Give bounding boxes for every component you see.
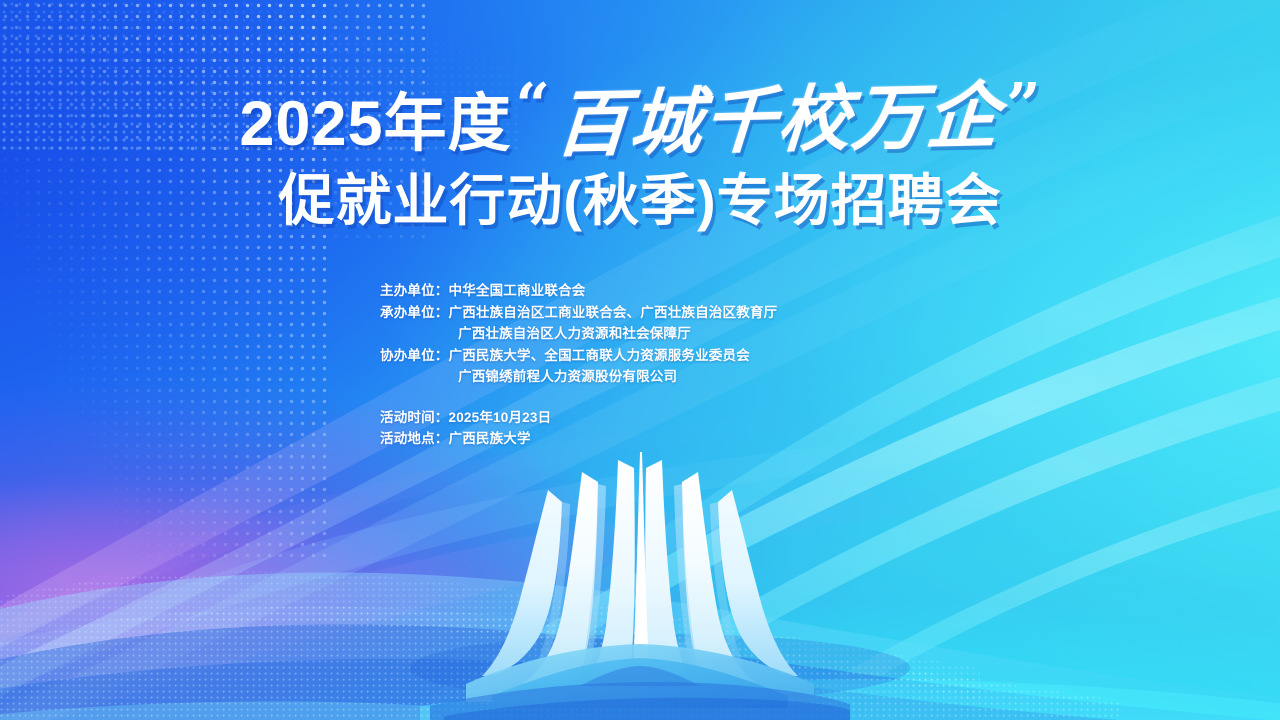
- quote-open-icon: “: [516, 76, 551, 136]
- credit-time: 活动时间： 2025年10月23日: [380, 407, 900, 429]
- subtitle: 促就业行动(秋季)专场招聘会: [0, 172, 1280, 231]
- credit-place: 活动地点： 广西民族大学: [380, 428, 900, 450]
- credits-block: 主办单位： 中华全国工商业联合会 承办单位： 广西壮族自治区工商业联合会、广西壮…: [380, 280, 900, 450]
- credit-host: 主办单位： 中华全国工商业联合会: [380, 280, 900, 302]
- credit-coorganizer-value-line2: 广西锦绣前程人力资源股份有限公司: [380, 366, 900, 388]
- credits-spacer: [380, 388, 900, 407]
- title-brush-phrase: 百城千校万企: [551, 79, 1005, 160]
- credit-time-label: 活动时间：: [380, 407, 449, 429]
- quote-close-icon: ”: [1006, 76, 1041, 136]
- credit-host-label: 主办单位：: [380, 280, 449, 302]
- credit-coorganizer-value: 广西民族大学、全国工商联人力资源服务业委员会: [449, 345, 750, 367]
- credit-coorganizer: 协办单位： 广西民族大学、全国工商联人力资源服务业委员会: [380, 345, 900, 367]
- credit-organizer: 承办单位： 广西壮族自治区工商业联合会、广西壮族自治区教育厅: [380, 302, 900, 324]
- headline-block: 2025年度 “ 百城千校万企 ” 促就业行动(秋季)专场招聘会: [0, 74, 1280, 231]
- monument-icon: [430, 450, 850, 720]
- credit-time-value: 2025年10月23日: [449, 407, 552, 429]
- credit-place-value: 广西民族大学: [449, 428, 531, 450]
- poster-canvas: 2025年度 “ 百城千校万企 ” 促就业行动(秋季)专场招聘会 主办单位： 中…: [0, 0, 1280, 720]
- credit-coorganizer-label: 协办单位：: [380, 345, 449, 367]
- title-year: 2025年度: [239, 93, 511, 156]
- credit-organizer-label: 承办单位：: [380, 302, 449, 324]
- main-title: 2025年度 “ 百城千校万企 ”: [0, 74, 1280, 156]
- credit-organizer-value: 广西壮族自治区工商业联合会、广西壮族自治区教育厅: [449, 302, 778, 324]
- credit-place-label: 活动地点：: [380, 428, 449, 450]
- monument-base: [430, 644, 850, 720]
- credit-organizer-value-line2: 广西壮族自治区人力资源和社会保障厅: [380, 323, 900, 345]
- credit-host-value: 中华全国工商业联合会: [449, 280, 586, 302]
